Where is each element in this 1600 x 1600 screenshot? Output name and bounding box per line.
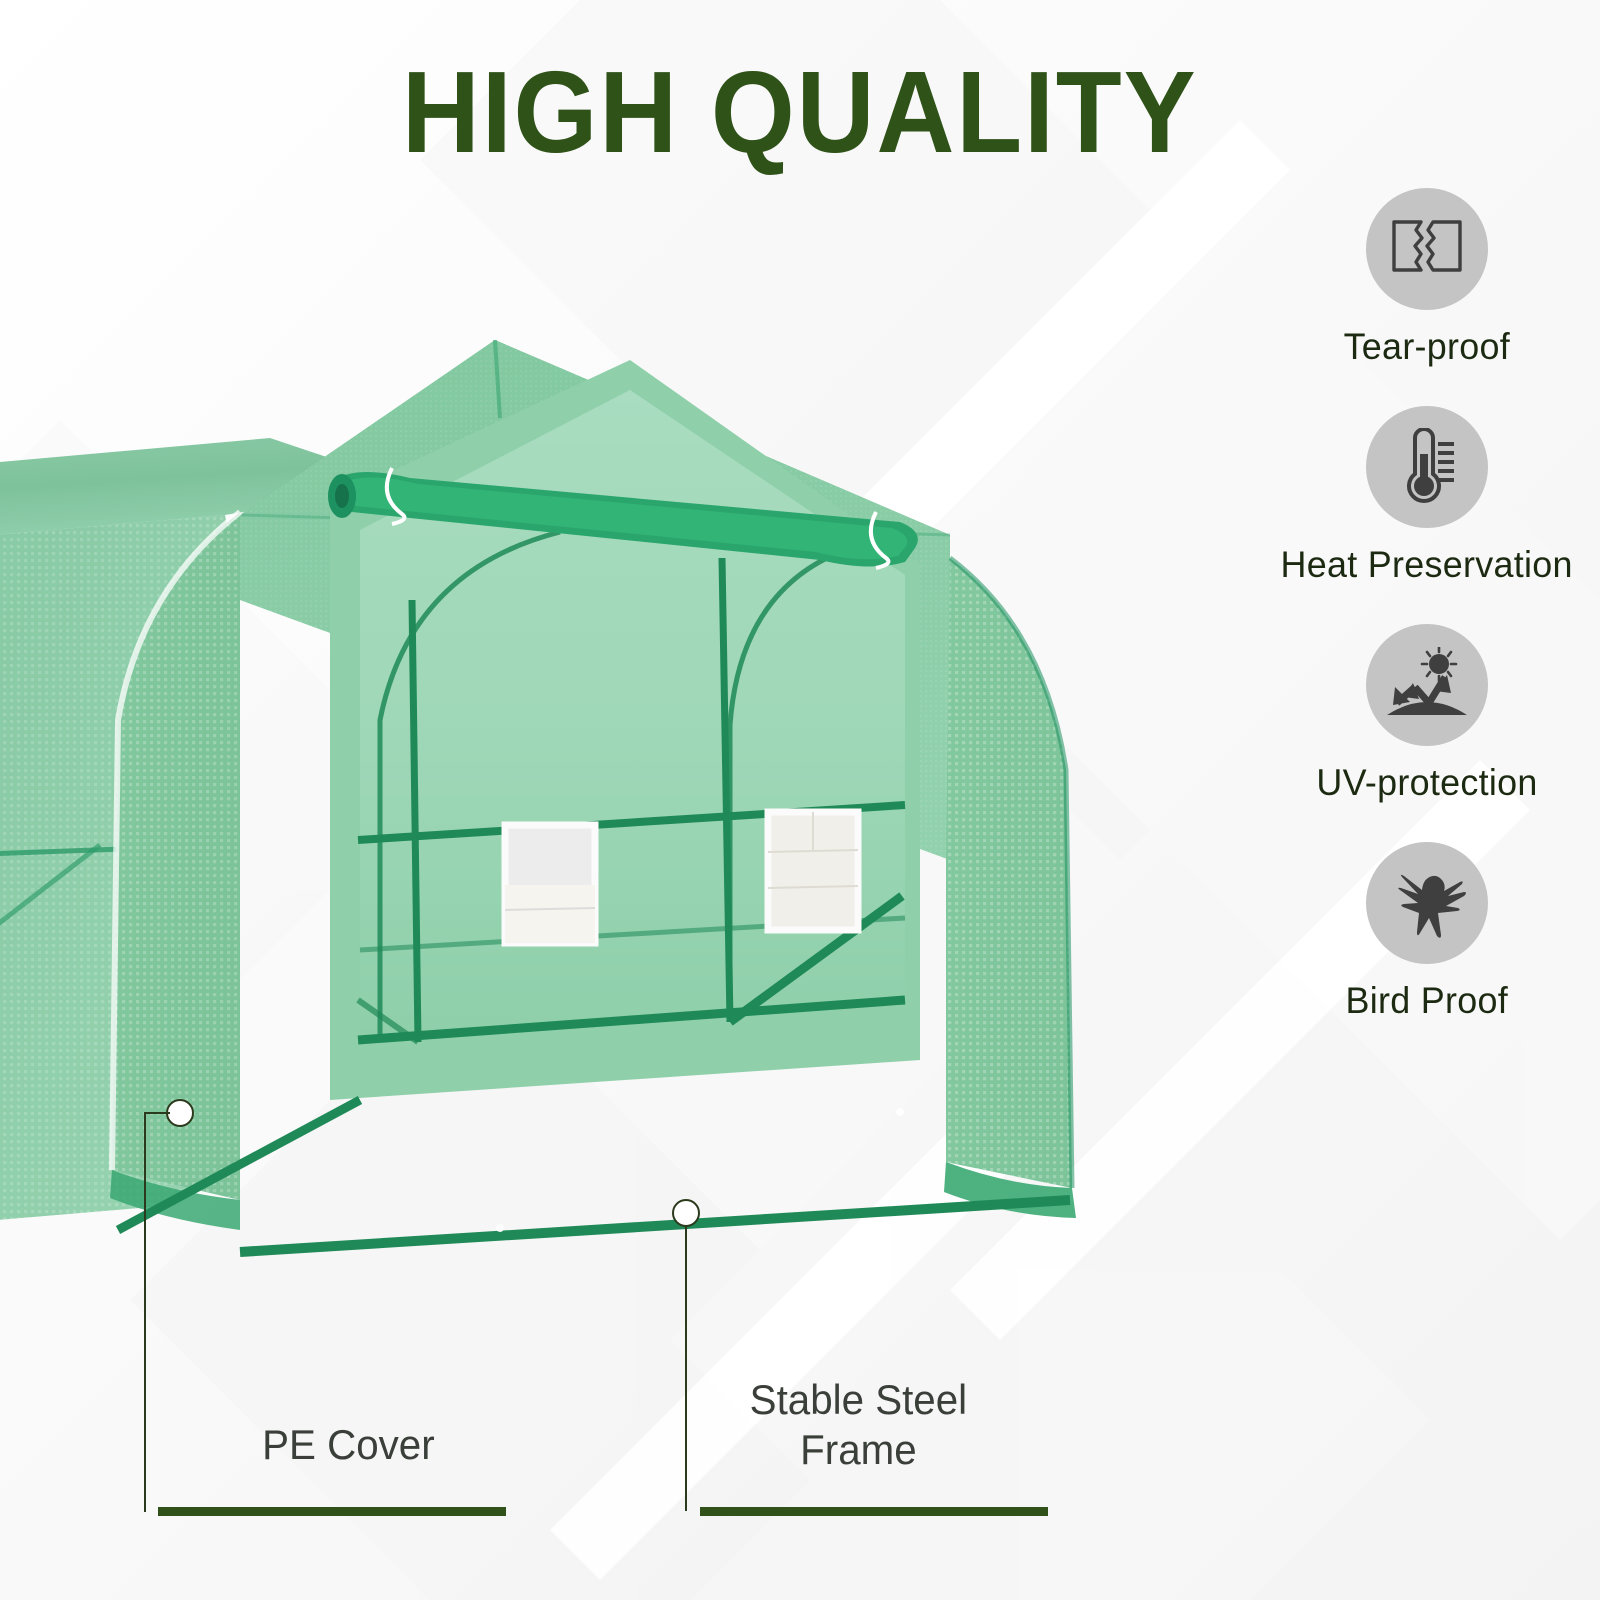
callout-marker [672, 1199, 700, 1227]
feature-tear-proof[interactable]: Tear-proof [1262, 188, 1592, 368]
torn-fabric-icon [1366, 188, 1488, 310]
feature-label: Heat Preservation [1281, 544, 1573, 586]
callout-label: Stable Steel Frame [700, 1375, 1017, 1474]
feature-bird-proof[interactable]: Bird Proof [1262, 842, 1592, 1022]
thermometer-icon [1366, 406, 1488, 528]
callout-underline [700, 1507, 1048, 1516]
feature-label: Tear-proof [1344, 326, 1510, 368]
feature-label: UV-protection [1316, 762, 1537, 804]
callout-stable-steel-frame: Stable Steel Frame [0, 0, 1200, 1600]
feature-heat-preservation[interactable]: Heat Preservation [1262, 406, 1592, 586]
uv-sun-shield-icon [1366, 624, 1488, 746]
feature-list: Tear-proof Heat Preservation [1262, 188, 1592, 1022]
callout-leader-vertical [685, 1226, 687, 1511]
flying-bird-icon [1366, 842, 1488, 964]
feature-uv-protection[interactable]: UV-protection [1262, 624, 1592, 804]
feature-label: Bird Proof [1346, 980, 1508, 1022]
